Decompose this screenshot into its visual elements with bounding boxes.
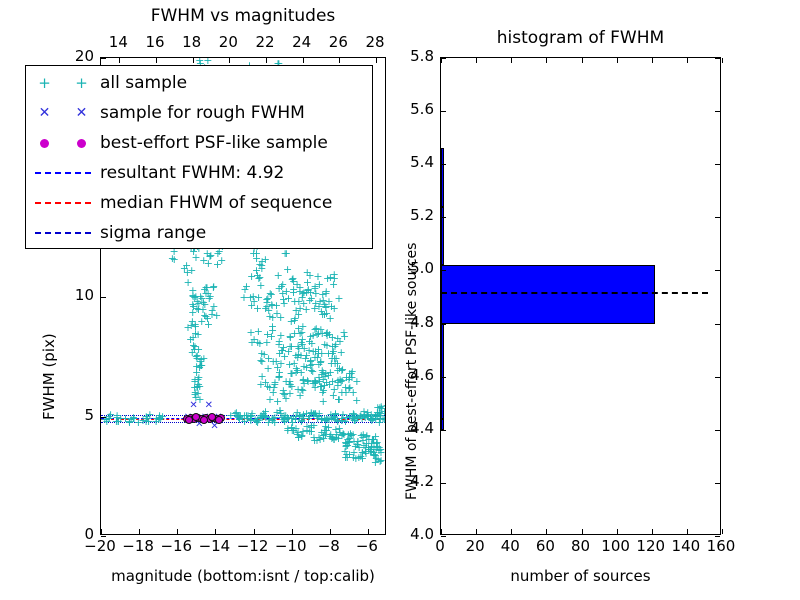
- dashed-line-icon: [26, 158, 100, 188]
- histogram-bar: [441, 207, 444, 265]
- left-yaxis-label: FWHM (pix): [40, 333, 58, 420]
- all-sample-point: +: [323, 327, 332, 338]
- all-sample-point: +: [142, 411, 151, 422]
- left-bottom-tick: [292, 529, 293, 534]
- rough-sample-point: ✕: [205, 401, 213, 411]
- all-sample-point: +: [324, 296, 333, 307]
- left-bottom-tick: [177, 529, 178, 534]
- left-top-tick-label: 20: [212, 35, 244, 50]
- left-top-tick: [119, 58, 120, 63]
- right-x-top-tick: [511, 58, 512, 63]
- left-y-tick-label: 20: [60, 49, 94, 64]
- psf-sample-point: [215, 416, 223, 424]
- right-y-tick: [441, 111, 446, 112]
- right-x-tick-label: 80: [564, 539, 598, 554]
- left-y-tick: [101, 58, 106, 59]
- right-y-tick-right: [715, 217, 720, 218]
- left-top-tick: [156, 58, 157, 63]
- left-top-tick-label: 26: [322, 35, 354, 50]
- left-top-tick-label: 22: [249, 35, 281, 50]
- all-sample-point: +: [330, 273, 339, 284]
- all-sample-point: +: [276, 312, 285, 323]
- right-x-tick-label: 0: [423, 539, 457, 554]
- all-sample-point: +: [371, 457, 380, 468]
- histogram-bar: [441, 419, 444, 430]
- all-sample-point: +: [276, 330, 285, 341]
- all-sample-point: +: [217, 255, 226, 266]
- all-sample-point: +: [333, 358, 342, 369]
- left-bottom-tick: [101, 529, 102, 534]
- all-sample-point: +: [303, 267, 312, 278]
- right-y-tick: [441, 217, 446, 218]
- right-y-tick: [441, 536, 446, 537]
- legend-item-label: best-effort PSF-like sample: [100, 133, 328, 153]
- right-y-tick: [441, 270, 446, 271]
- all-sample-point: +: [340, 331, 349, 342]
- right-x-tick: [617, 529, 618, 534]
- legend-item[interactable]: ✕✕sample for rough FWHM: [26, 98, 372, 128]
- left-bottom-tick-label: −16: [160, 539, 192, 554]
- left-panel-title: FWHM vs magnitudes: [100, 6, 386, 26]
- right-panel-title: histogram of FWHM: [440, 28, 721, 48]
- right-x-tick-label: 60: [528, 539, 562, 554]
- left-xaxis-label: magnitude (bottom:isnt / top:calib): [100, 567, 386, 585]
- right-y-tick-right: [715, 164, 720, 165]
- left-bottom-tick-label: −18: [122, 539, 154, 554]
- histogram-plot-area: [441, 58, 720, 534]
- histogram-reference-line: [441, 292, 708, 294]
- left-y-tick-label: 5: [60, 408, 94, 423]
- right-yaxis-label: FWHM of best-effort PSF-like sources: [404, 243, 420, 500]
- filled-circle-icon: [26, 128, 100, 158]
- all-sample-point: +: [199, 353, 208, 364]
- legend-item-label: sample for rough FWHM: [100, 103, 305, 123]
- left-top-tick: [266, 58, 267, 63]
- dashed-line-icon: [26, 188, 100, 218]
- left-bottom-tick-label: −10: [275, 539, 307, 554]
- all-sample-point: +: [207, 309, 216, 320]
- right-x-top-tick: [476, 58, 477, 63]
- left-bottom-tick-label: −12: [237, 539, 269, 554]
- right-x-tick-label: 140: [669, 539, 703, 554]
- right-y-tick: [441, 324, 446, 325]
- plot-legend: ++all sample✕✕sample for rough FWHMbest-…: [25, 65, 373, 249]
- right-y-tick: [441, 430, 446, 431]
- right-xaxis-label: number of sources: [440, 567, 721, 585]
- legend-item[interactable]: resultant FWHM: 4.92: [26, 158, 372, 188]
- right-x-top-tick: [687, 58, 688, 63]
- right-x-tick-label: 160: [704, 539, 738, 554]
- left-y-tick: [101, 536, 106, 537]
- histogram-bar: [441, 265, 655, 323]
- left-bottom-tick-label: −6: [351, 539, 383, 554]
- all-sample-point: +: [269, 382, 278, 393]
- all-sample-point: +: [345, 382, 354, 393]
- all-sample-point: +: [306, 355, 315, 366]
- right-y-tick: [441, 164, 446, 165]
- left-top-tick-label: 18: [176, 35, 208, 50]
- right-x-tick-label: 100: [599, 539, 633, 554]
- all-sample-point: +: [331, 339, 340, 350]
- all-sample-point: +: [252, 265, 261, 276]
- right-x-tick-label: 40: [493, 539, 527, 554]
- all-sample-point: +: [262, 337, 271, 348]
- right-x-tick: [687, 529, 688, 534]
- right-x-top-tick: [722, 58, 723, 63]
- all-sample-point: +: [256, 280, 265, 291]
- right-y-tick-label: 5.2: [398, 208, 434, 223]
- right-x-top-tick: [441, 58, 442, 63]
- right-y-tick-right: [715, 536, 720, 537]
- right-x-tick-label: 20: [458, 539, 492, 554]
- legend-item-label: resultant FWHM: 4.92: [100, 163, 284, 183]
- dashdot-line-icon: [26, 218, 100, 248]
- right-x-top-tick: [617, 58, 618, 63]
- cross-icon: ✕✕: [26, 98, 100, 128]
- legend-item-label: median FHWM of sequence: [100, 193, 332, 213]
- right-y-tick: [441, 377, 446, 378]
- right-y-tick-right: [715, 111, 720, 112]
- all-sample-point: +: [105, 411, 114, 422]
- left-bottom-tick: [215, 529, 216, 534]
- left-y-tick: [101, 417, 106, 418]
- all-sample-point: +: [321, 368, 330, 379]
- left-y-tick: [101, 297, 106, 298]
- left-y-tick-label: 0: [60, 527, 94, 542]
- all-sample-point: +: [194, 329, 203, 340]
- figure-canvas: FWHM vs magnitudes 1416182022242628 −20−…: [0, 0, 800, 600]
- right-axes-frame: [440, 57, 721, 535]
- left-top-tick-label: 14: [102, 35, 134, 50]
- all-sample-point: +: [168, 253, 177, 264]
- right-x-top-tick: [652, 58, 653, 63]
- all-sample-point: +: [265, 394, 274, 405]
- left-top-tick: [193, 58, 194, 63]
- left-top-tick-label: 24: [286, 35, 318, 50]
- right-y-tick-right: [715, 270, 720, 271]
- legend-item[interactable]: sigma range: [26, 218, 372, 248]
- left-bottom-tick-label: −14: [198, 539, 230, 554]
- right-x-tick: [582, 529, 583, 534]
- all-sample-point: +: [180, 263, 189, 274]
- left-y-tick-label: 10: [60, 288, 94, 303]
- all-sample-point: +: [341, 452, 350, 463]
- right-y-tick-right: [715, 324, 720, 325]
- all-sample-point: +: [295, 328, 304, 339]
- right-y-tick-label: 5.8: [398, 49, 434, 64]
- left-bottom-tick: [139, 529, 140, 534]
- right-y-tick-right: [715, 377, 720, 378]
- right-x-tick: [546, 529, 547, 534]
- left-top-tick: [303, 58, 304, 63]
- right-y-tick-label: 5.4: [398, 155, 434, 170]
- right-x-tick: [511, 529, 512, 534]
- all-sample-point: +: [247, 300, 256, 311]
- histogram-bar: [441, 324, 444, 420]
- psf-sample-point: [200, 416, 208, 424]
- all-sample-point: +: [319, 396, 328, 407]
- right-x-tick: [476, 529, 477, 534]
- right-y-tick-right: [715, 483, 720, 484]
- all-sample-point: +: [334, 293, 343, 304]
- legend-item[interactable]: median FHWM of sequence: [26, 188, 372, 218]
- right-y-tick-right: [715, 58, 720, 59]
- left-top-tick: [229, 58, 230, 63]
- right-x-tick: [652, 529, 653, 534]
- right-x-top-tick: [582, 58, 583, 63]
- all-sample-point: +: [268, 300, 277, 311]
- left-bottom-tick: [330, 529, 331, 534]
- histogram-bar: [441, 148, 444, 206]
- left-bottom-tick: [254, 529, 255, 534]
- all-sample-point: +: [195, 394, 204, 405]
- right-x-tick: [722, 529, 723, 534]
- left-top-tick: [339, 58, 340, 63]
- right-x-tick-label: 120: [634, 539, 668, 554]
- left-top-tick-label: 16: [139, 35, 171, 50]
- plus-icon: ++: [26, 68, 100, 98]
- right-y-tick-label: 5.6: [398, 102, 434, 117]
- rough-sample-point: ✕: [210, 422, 218, 432]
- legend-item-label: sigma range: [100, 223, 206, 243]
- legend-item-label: all sample: [100, 73, 187, 93]
- all-sample-point: +: [121, 413, 130, 424]
- left-bottom-tick-label: −8: [313, 539, 345, 554]
- left-bottom-tick: [368, 529, 369, 534]
- left-top-tick-label: 28: [359, 35, 391, 50]
- right-y-tick-right: [715, 430, 720, 431]
- all-sample-point: +: [209, 282, 218, 293]
- all-sample-point: +: [155, 412, 164, 423]
- all-sample-point: +: [326, 313, 335, 324]
- left-top-tick: [376, 58, 377, 63]
- right-x-top-tick: [546, 58, 547, 63]
- right-y-tick: [441, 483, 446, 484]
- all-sample-point: +: [190, 382, 199, 393]
- legend-item[interactable]: best-effort PSF-like sample: [26, 128, 372, 158]
- legend-item[interactable]: ++all sample: [26, 68, 372, 98]
- all-sample-point: +: [134, 417, 143, 428]
- all-sample-point: +: [375, 402, 384, 413]
- all-sample-point: +: [286, 368, 295, 379]
- right-x-tick: [441, 529, 442, 534]
